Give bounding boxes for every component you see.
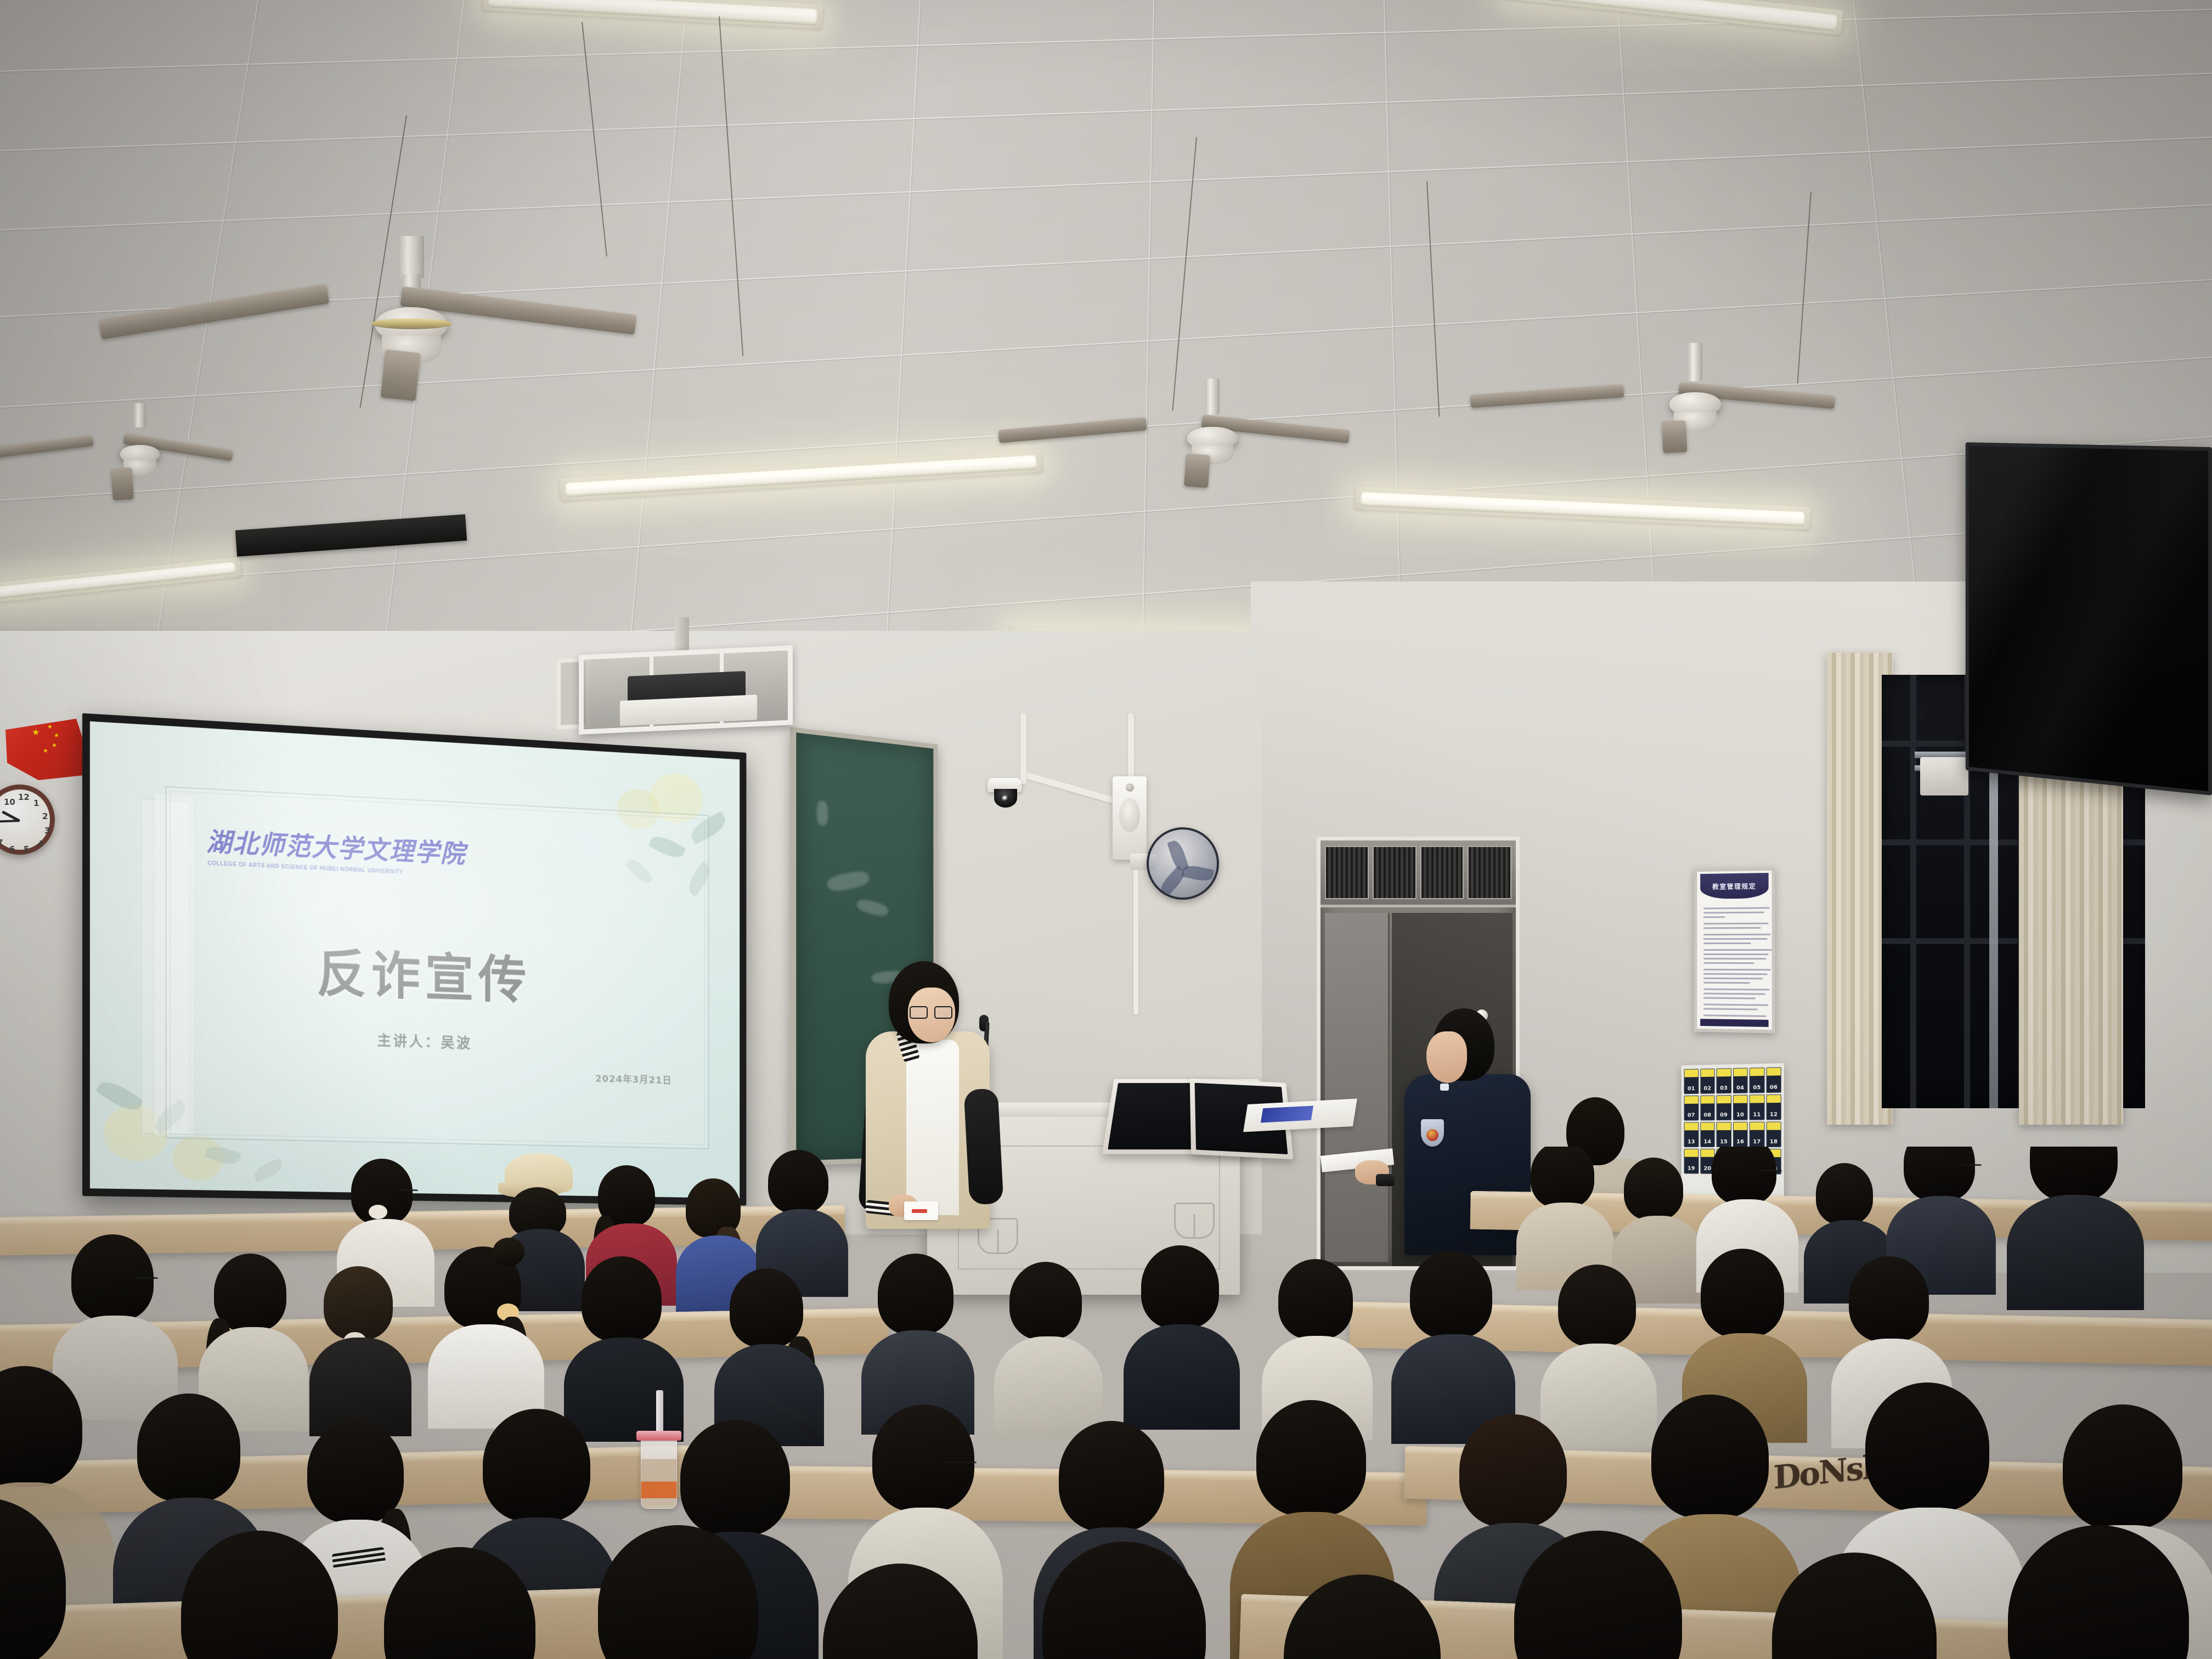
document-cover: [1261, 1105, 1313, 1122]
audience-seating: DoNsl: [0, 1147, 2212, 1659]
classroom-rules-poster: 教室管理规定: [1694, 867, 1775, 1034]
fan-blade: [0, 435, 93, 459]
electrical-conduit: [1020, 713, 1026, 785]
louver-vent: [1420, 846, 1464, 899]
camera-lens-icon: [1002, 795, 1009, 802]
fan-blade: [1470, 384, 1624, 408]
clock-numeral: 4: [38, 839, 43, 849]
ceiling-fan-2: [71, 403, 208, 491]
phone-pocket: 06: [1766, 1067, 1781, 1093]
slide-date: 2024年3月21日: [595, 1071, 672, 1087]
fan-blade: [99, 284, 329, 339]
phone-pocket: 11: [1750, 1094, 1764, 1120]
clock-numeral: 5: [24, 844, 29, 854]
fan-blade: [1662, 420, 1688, 453]
poster-footer: [1700, 1019, 1768, 1027]
phone-pocket: 15: [1717, 1122, 1731, 1147]
glasses-icon: [910, 1006, 953, 1019]
projector-security-cage: [579, 645, 793, 735]
phone-pocket: 08: [1700, 1095, 1715, 1120]
clock-numeral: 12: [18, 792, 30, 802]
clock-numeral: 1: [33, 798, 39, 808]
fan-blade: [381, 349, 421, 401]
phone-pocket: 01: [1684, 1069, 1699, 1094]
electrical-conduit: [1128, 713, 1134, 780]
phone-pocket: 16: [1733, 1122, 1747, 1147]
slide-surface: 湖北师范大学文理学院 COLLEGE OF ARTS AND SCIENCE O…: [90, 721, 740, 1198]
phone-pocket: 09: [1717, 1095, 1731, 1120]
phone-pocket: 07: [1684, 1096, 1699, 1121]
ceiling-fan-1: [318, 236, 505, 379]
officer-face: [1426, 1031, 1467, 1083]
phone-pocket: 14: [1700, 1122, 1715, 1147]
projector-ceiling-mount: [675, 617, 689, 654]
clock-numeral: 6: [9, 844, 15, 854]
clock-numeral: 3: [44, 826, 50, 836]
ceiling-fan-3: [1125, 379, 1300, 488]
drink-lid: [636, 1431, 681, 1441]
poster-header: 教室管理规定: [1700, 873, 1768, 899]
speaker-cone-icon: [1119, 798, 1140, 832]
fan-blade: [1184, 454, 1210, 488]
drink-straw: [656, 1390, 663, 1435]
door-transom: [1321, 840, 1516, 907]
police-emblem-icon: [1426, 1129, 1438, 1141]
phone-pocket: 05: [1750, 1068, 1764, 1093]
phone-pocket: 18: [1766, 1121, 1781, 1147]
speaker-tweeter-icon: [1126, 783, 1134, 792]
phone-pocket: 10: [1733, 1095, 1747, 1120]
louver-vent: [1373, 846, 1417, 899]
ceiling-vent: [235, 514, 467, 556]
ceiling-fan-4: [1596, 343, 1794, 453]
fan-blade: [111, 467, 134, 501]
clock-numeral: 2: [42, 811, 48, 821]
phone-pocket: 03: [1717, 1068, 1731, 1093]
louver-vent: [1325, 846, 1369, 899]
classroom-scene: ★ ★ ★ ★ ★ 12 1 2 3 4 5 6 7 8 9 10: [0, 0, 2212, 1659]
electrical-conduit: [1133, 856, 1138, 1015]
phone-pocket: 13: [1684, 1122, 1699, 1147]
phone-pocket: 02: [1700, 1069, 1715, 1094]
bubble-tea-cup: [641, 1437, 677, 1509]
clock-minute-hand: [0, 820, 20, 823]
tv-wall-mount: [1920, 757, 1968, 795]
projection-screen: 湖北师范大学文理学院 COLLEGE OF ARTS AND SCIENCE O…: [82, 713, 746, 1205]
phone-pocket: 04: [1733, 1068, 1747, 1093]
phone-pocket: 17: [1750, 1122, 1764, 1147]
louver-vent: [1468, 846, 1511, 899]
poster-title: 教室管理规定: [1712, 881, 1756, 891]
wall-fan[interactable]: [1147, 827, 1219, 900]
phone-pocket: 12: [1766, 1094, 1781, 1120]
officer-collar-insignia: [1440, 1084, 1449, 1091]
fan-blade: [998, 417, 1147, 443]
wall-tv[interactable]: [1966, 442, 2212, 795]
clock-numeral: 7: [0, 838, 3, 848]
clock-numeral: 10: [4, 797, 15, 807]
